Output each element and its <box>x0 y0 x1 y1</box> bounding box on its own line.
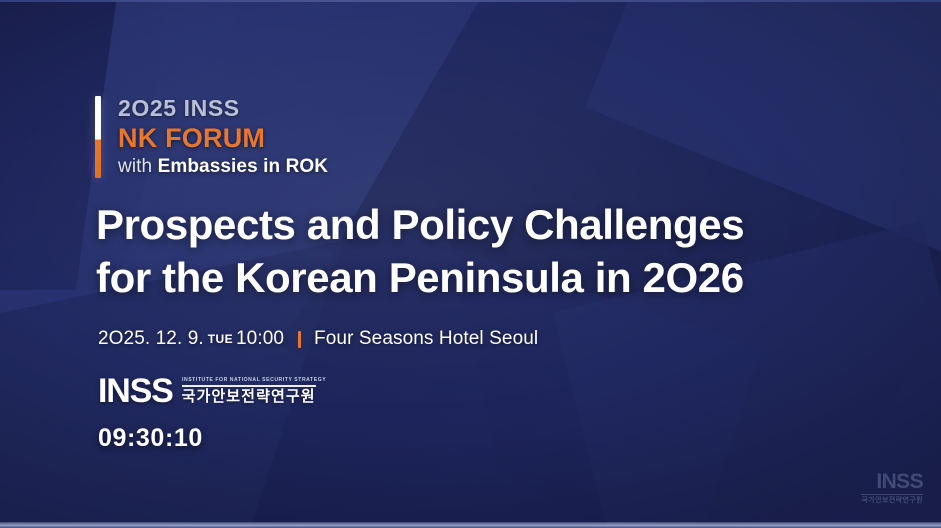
event-details-separator <box>298 331 301 348</box>
inss-logo-wordmark: INSS <box>98 374 173 408</box>
event-time: 10:00 <box>236 328 284 350</box>
event-branding-text: 2O25 INSS NK FORUM with Embassies in ROK <box>118 96 328 179</box>
event-details: 2O25. 12. 9. TUE 10:00 Four Seasons Hote… <box>98 328 538 350</box>
event-branding-block: 2O25 INSS NK FORUM with Embassies in ROK <box>95 96 328 179</box>
event-subtitle: with Embassies in ROK <box>118 156 328 179</box>
slide-content: 2O25 INSS NK FORUM with Embassies in ROK… <box>0 0 941 528</box>
inss-watermark: INSS 국가안보전략연구원 <box>861 471 923 504</box>
inss-watermark-rule <box>861 494 923 495</box>
event-subtitle-with: with <box>118 156 158 177</box>
inss-logo-rule <box>182 385 316 387</box>
accent-bar <box>95 96 101 178</box>
slide-title-line-1: Prospects and Policy Challenges <box>96 199 916 252</box>
event-subtitle-main: Embassies in ROK <box>158 156 329 177</box>
session-timer: 09:30:10 <box>98 424 203 453</box>
inss-watermark-wordmark: INSS <box>861 471 923 492</box>
event-date: 2O25. 12. 9. <box>98 328 204 350</box>
inss-watermark-korean: 국가안보전략연구원 <box>861 497 923 504</box>
presentation-slide: 2O25 INSS NK FORUM with Embassies in ROK… <box>0 0 941 528</box>
event-forum-name: NK FORUM <box>118 123 328 153</box>
inss-logo-english-name: INSTITUTE FOR NATIONAL SECURITY STRATEGY <box>182 378 326 383</box>
bottom-strip <box>0 522 941 528</box>
event-year-org: 2O25 INSS <box>118 96 328 122</box>
inss-logo: INSS INSTITUTE FOR NATIONAL SECURITY STR… <box>98 374 323 408</box>
inss-logo-korean-name: 국가안보전략연구원 <box>182 389 323 405</box>
event-venue: Four Seasons Hotel Seoul <box>314 328 538 350</box>
slide-title: Prospects and Policy Challenges for the … <box>96 199 916 305</box>
event-day-of-week: TUE <box>208 332 233 346</box>
slide-title-line-2: for the Korean Peninsula in 2O26 <box>96 252 916 305</box>
inss-logo-text-block: INSTITUTE FOR NATIONAL SECURITY STRATEGY… <box>182 378 323 405</box>
